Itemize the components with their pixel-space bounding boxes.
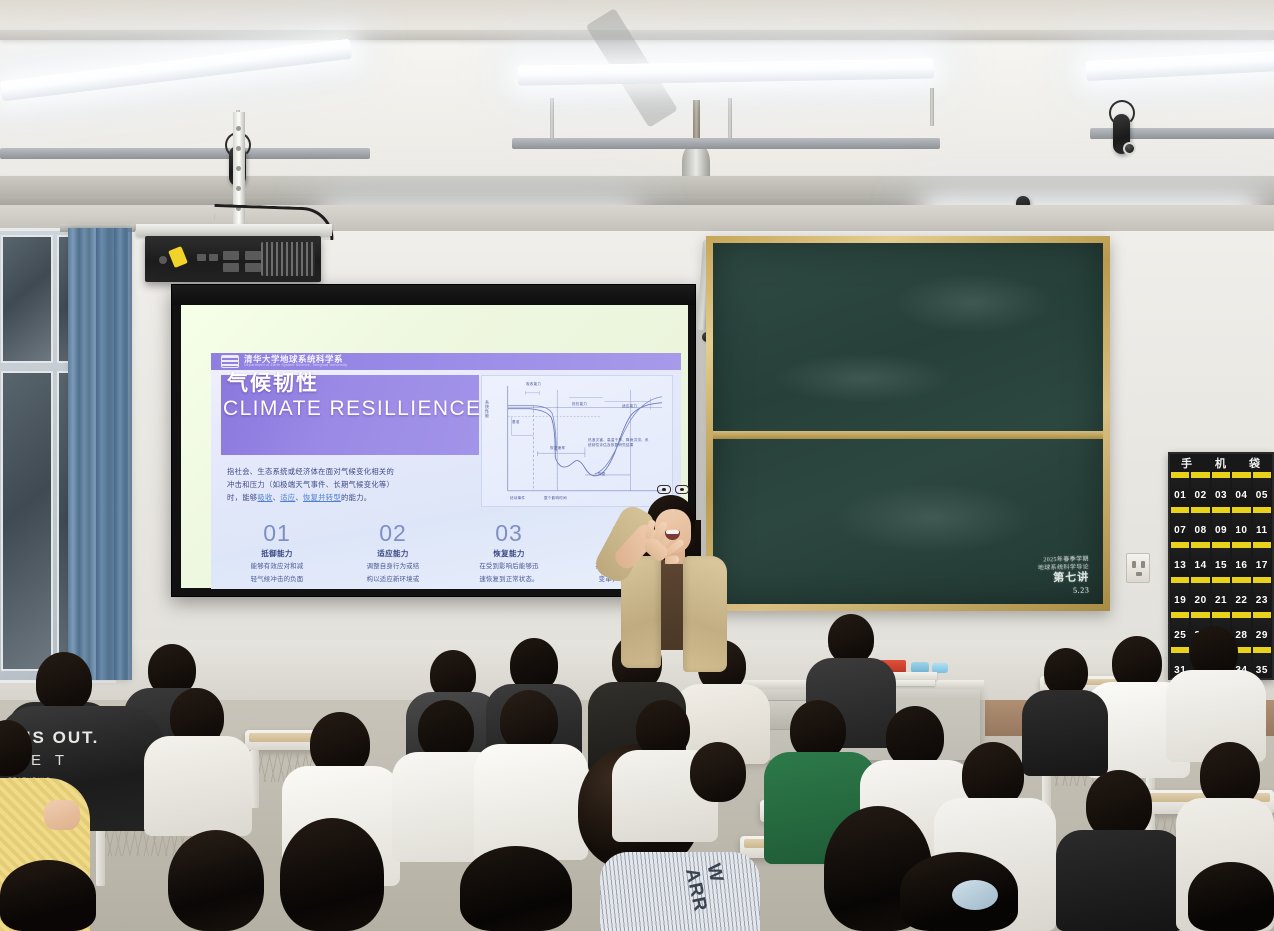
phone-pocket[interactable]: 10 xyxy=(1232,507,1250,542)
pocket-number: 14 xyxy=(1195,560,1207,571)
pocket-number: 29 xyxy=(1256,630,1268,641)
pocket-number: 01 xyxy=(1174,490,1186,501)
ceiling-slab xyxy=(0,0,1274,34)
pocket-chart-header: 手 机 袋 xyxy=(1170,454,1272,472)
body-sep: 、 xyxy=(295,493,303,502)
chart-y-label: 系统性能 xyxy=(484,400,490,418)
body-highlight-recover: 恢复并转型 xyxy=(303,493,341,502)
light-fixture-body xyxy=(512,138,940,149)
pocket-number: 13 xyxy=(1174,560,1186,571)
phone-pocket[interactable]: 07 xyxy=(1171,507,1189,542)
chart-annotation: 恢复速率 xyxy=(550,446,565,451)
pocket-number: 02 xyxy=(1195,490,1207,501)
slide-title-cn: 气候韧性 xyxy=(227,367,319,397)
projector-mount-plate xyxy=(136,224,332,236)
phone-pocket[interactable]: 25 xyxy=(1171,612,1189,647)
hair-scrunchie xyxy=(952,880,998,910)
phone-pocket[interactable]: 14 xyxy=(1191,542,1209,577)
classroom-scene: 清华大学地球系统科学系 Department of Earth System S… xyxy=(0,0,1274,931)
card-desc-line-1: 调整自身行为或结 xyxy=(339,562,447,572)
card-title: 恢复能力 xyxy=(455,548,563,559)
chalk-line-3: 第七讲 xyxy=(1038,572,1089,587)
projector-vent xyxy=(261,242,315,276)
instructor-jacket-right xyxy=(683,556,727,672)
blackboard: 2025年春季学期 地球系统科学导论 第七讲 5.23 xyxy=(706,236,1110,611)
card-number: 02 xyxy=(339,521,447,545)
body-highlight-absorb: 吸收 xyxy=(257,493,272,502)
phone-pocket[interactable]: 05 xyxy=(1253,472,1271,507)
pocket-number: 08 xyxy=(1195,525,1207,536)
window-curtain[interactable] xyxy=(96,228,132,680)
phone-pocket[interactable]: 29 xyxy=(1253,612,1271,647)
light-hanger-rod xyxy=(728,98,732,140)
capability-card-02: 02 适应能力 调整自身行为或结 构以适应新环境或 xyxy=(339,521,447,585)
wall-power-outlet[interactable] xyxy=(1126,553,1150,583)
phone-pocket[interactable]: 02 xyxy=(1191,472,1209,507)
light-hanger-rod xyxy=(550,98,554,140)
chart-annotation: 基准 xyxy=(512,420,520,425)
chart-xtick: 扰动事件 xyxy=(510,496,525,501)
pocket-number: 17 xyxy=(1256,560,1268,571)
pocket-row: 07 08 09 10 11 xyxy=(1170,507,1272,542)
phone-pocket[interactable]: 22 xyxy=(1232,577,1250,612)
window-pane xyxy=(1,371,53,671)
pocket-number: 09 xyxy=(1215,525,1227,536)
card-number: 03 xyxy=(455,521,563,545)
body-line-1: 指社会、生态系统或经济体在面对气候变化相关的 xyxy=(227,466,477,479)
pocket-number: 28 xyxy=(1235,630,1247,641)
card-desc-line-2: 轻气候冲击的负面 xyxy=(223,575,331,585)
pocket-number: 04 xyxy=(1235,490,1247,501)
chart-annotation: 抵抗能力 xyxy=(572,402,587,407)
chart-annotation: 适应能力 xyxy=(622,404,637,409)
phone-pocket[interactable]: 20 xyxy=(1191,577,1209,612)
phone-pocket[interactable]: 15 xyxy=(1212,542,1230,577)
phone-pocket[interactable]: 17 xyxy=(1253,542,1271,577)
blackboard-chalk-writing: 2025年春季学期 地球系统科学导论 第七讲 5.23 xyxy=(1037,557,1089,597)
body-line-3-post: 的能力。 xyxy=(341,493,371,502)
student-hand xyxy=(44,800,80,830)
pocket-number: 22 xyxy=(1235,595,1247,606)
pocket-number: 11 xyxy=(1256,525,1268,536)
pocket-header-char-2: 机 xyxy=(1215,455,1227,471)
newspaper-print-garment xyxy=(600,852,760,931)
card-desc-line-1: 在受到影响后能够迅 xyxy=(455,562,563,572)
chart-xtick: 整个影响时间 xyxy=(544,496,567,501)
card-title: 适应能力 xyxy=(339,548,447,559)
pocket-number: 16 xyxy=(1235,560,1247,571)
pocket-number: 25 xyxy=(1174,630,1186,641)
window-pane xyxy=(1,235,53,363)
pocket-number: 10 xyxy=(1235,525,1247,536)
pocket-number: 05 xyxy=(1256,490,1268,501)
ceiling-beam-main xyxy=(0,176,1274,198)
pocket-row: 19 20 21 22 23 xyxy=(1170,577,1272,612)
phone-pocket[interactable]: 11 xyxy=(1253,507,1271,542)
capability-card-03: 03 恢复能力 在受到影响后能够迅 速恢复到正常状态。 xyxy=(455,521,563,585)
pocket-number: 20 xyxy=(1195,595,1207,606)
capability-card-01: 01 抵御能力 能够有效应对和减 轻气候冲击的负面 xyxy=(223,521,331,585)
card-number: 01 xyxy=(223,521,331,545)
ceiling-beam-top xyxy=(0,30,1274,40)
phone-pocket[interactable]: 09 xyxy=(1212,507,1230,542)
blackboard-divider xyxy=(713,431,1103,439)
card-title: 抵御能力 xyxy=(223,548,331,559)
pocket-header-char-1: 手 xyxy=(1181,455,1193,471)
garment-text: W ARR xyxy=(680,862,732,914)
phone-pocket[interactable]: 16 xyxy=(1232,542,1250,577)
chart-annotation: 吸收能力 xyxy=(526,382,541,387)
card-desc-line-1: 能够有效应对和减 xyxy=(223,562,331,572)
pocket-header-char-3: 袋 xyxy=(1249,455,1261,471)
chalk-line-2: 地球系统科学导论 xyxy=(1038,564,1089,572)
slide-header-cn: 清华大学地球系统科学系 xyxy=(244,355,347,364)
blackboard-surface: 2025年春季学期 地球系统科学导论 第七讲 5.23 xyxy=(713,243,1103,604)
pocket-number: 35 xyxy=(1256,665,1268,676)
chalk-line-4: 5.23 xyxy=(1038,586,1089,597)
pocket-number: 15 xyxy=(1215,560,1227,571)
projector[interactable] xyxy=(145,236,321,282)
pocket-number: 19 xyxy=(1174,595,1186,606)
screen-top-bar xyxy=(172,285,695,305)
card-desc-line-2: 速恢复到正常状态。 xyxy=(455,575,563,585)
instructor xyxy=(585,468,750,698)
pocket-row: 13 14 15 16 17 xyxy=(1170,542,1272,577)
slide-title-en: CLIMATE RESILLIENCE xyxy=(223,397,481,421)
phone-pocket[interactable]: 13 xyxy=(1171,542,1189,577)
pocket-number: 21 xyxy=(1215,595,1227,606)
classroom-camera-icon xyxy=(1123,142,1136,155)
body-line-3: 时，能够吸收、适应、恢复并转型的能力。 xyxy=(227,492,477,505)
phone-pocket[interactable]: 21 xyxy=(1212,577,1230,612)
body-line-3-pre: 时，能够 xyxy=(227,493,257,502)
phone-pocket[interactable]: 08 xyxy=(1191,507,1209,542)
pocket-row: 01 02 03 04 05 xyxy=(1170,472,1272,507)
light-fixture-body xyxy=(0,148,370,159)
phone-pocket[interactable]: 04 xyxy=(1232,472,1250,507)
card-desc-line-2: 构以适应新环境或 xyxy=(339,575,447,585)
phone-pocket[interactable]: 19 xyxy=(1171,577,1189,612)
instructor-teeth xyxy=(666,530,679,534)
pocket-number: 07 xyxy=(1174,525,1186,536)
body-highlight-adapt: 适应 xyxy=(280,493,295,502)
slide-body-text: 指社会、生态系统或经济体在面对气候变化相关的 冲击和压力（如极端天气事件、长期气… xyxy=(227,466,477,504)
chart-annotation-note: 热浪灾害、高温干旱、降雨洪涝、系统韧性评估及恢复研究结果 xyxy=(588,438,650,448)
pocket-number: 23 xyxy=(1256,595,1268,606)
light-hanger-rod xyxy=(930,88,934,126)
pocket-number: 03 xyxy=(1215,490,1227,501)
phone-pocket[interactable]: 01 xyxy=(1171,472,1189,507)
body-line-2: 冲击和压力（如极端天气事件、长期气候变化等） xyxy=(227,479,477,492)
projector-label-tag xyxy=(168,246,188,268)
phone-pocket[interactable]: 23 xyxy=(1253,577,1271,612)
phone-pocket[interactable]: 03 xyxy=(1212,472,1230,507)
